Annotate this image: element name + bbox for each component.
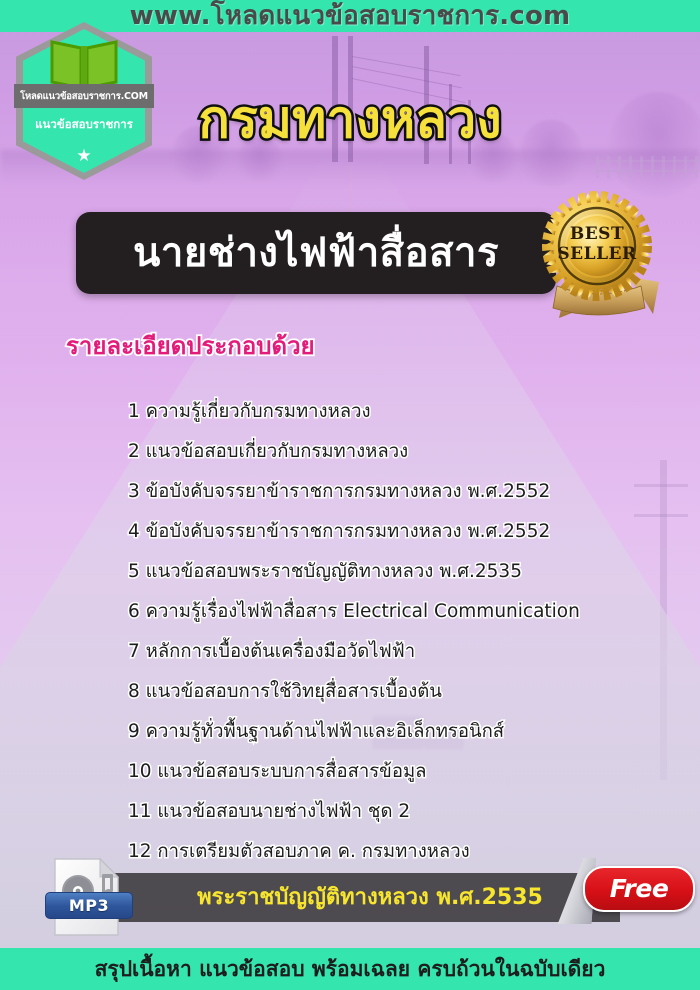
free-badge-label: Free xyxy=(610,874,669,904)
list-item: 8 แนวข้อสอบการใช้วิทยุสื่อสารเบื้องต้น xyxy=(128,672,668,712)
badge-banner: โหลดแนวข้อสอบราชการ.COM xyxy=(14,84,154,108)
footer-bar: สรุปเนื้อหา แนวข้อสอบ พร้อมเฉลย ครบถ้วนใ… xyxy=(0,948,700,990)
mp3-strip-text: พระราชบัญญัติทางหลวง พ.ศ.2535 xyxy=(197,883,543,913)
list-item: 5 แนวข้อสอบพระราชบัญญัติทางหลวง พ.ศ.2535 xyxy=(128,552,668,592)
list-item: 1 ความรู้เกี่ยวกับกรมทางหลวง xyxy=(128,392,668,432)
star-icon: ★ xyxy=(76,148,91,165)
best-seller-badge: BEST SELLER xyxy=(541,190,673,322)
exam-prep-poster: www.โหลดแนวข้อสอบราชการ.com โหลดแนวข้อสอ… xyxy=(0,0,700,990)
logo-badge[interactable]: โหลดแนวข้อสอบราชการ.COM แนวข้อสอบราชการ … xyxy=(16,22,152,180)
list-item: 6 ความรู้เรื่องไฟฟ้าสื่อสาร Electrical C… xyxy=(128,592,668,632)
mp3-label-text: MP3 xyxy=(69,896,109,915)
badge-banner-text: โหลดแนวข้อสอบราชการ.COM xyxy=(20,89,148,104)
list-item: 9 ความรู้ทั่วพื้นฐานด้านไฟฟ้าและอิเล็กทร… xyxy=(128,712,668,752)
list-item: 10 แนวข้อสอบระบบการสื่อสารข้อมูล xyxy=(128,752,668,792)
mp3-strip: พระราชบัญญัติทางหลวง พ.ศ.2535 xyxy=(100,873,620,922)
mp3-format-label: MP3 xyxy=(45,892,133,919)
free-badge: Free xyxy=(583,866,695,912)
list-item: 4 ข้อบังคับจรรยาข้าราชการกรมทางหลวง พ.ศ.… xyxy=(128,512,668,552)
badge-subtitle: แนวข้อสอบราชการ xyxy=(16,116,152,134)
subtitle-bar: นายช่างไฟฟ้าสื่อสาร xyxy=(76,212,556,294)
list-item: 11 แนวข้อสอบนายช่างไฟฟ้า ชุด 2 xyxy=(128,792,668,832)
contents-list: 1 ความรู้เกี่ยวกับกรมทางหลวง 2 แนวข้อสอบ… xyxy=(128,392,668,872)
list-item: 3 ข้อบังคับจรรยาข้าราชการกรมทางหลวง พ.ศ.… xyxy=(128,472,668,512)
section-heading: รายละเอียดประกอบด้วย xyxy=(66,326,315,365)
subtitle-text: นายช่างไฟฟ้าสื่อสาร xyxy=(133,227,499,279)
list-item: 2 แนวข้อสอบเกี่ยวกับกรมทางหลวง xyxy=(128,432,668,472)
list-item: 7 หลักการเบื้องต้นเครื่องมือวัดไฟฟ้า xyxy=(128,632,668,672)
best-seller-medal-icon xyxy=(541,190,673,322)
footer-text: สรุปเนื้อหา แนวข้อสอบ พร้อมเฉลย ครบถ้วนใ… xyxy=(95,954,606,984)
